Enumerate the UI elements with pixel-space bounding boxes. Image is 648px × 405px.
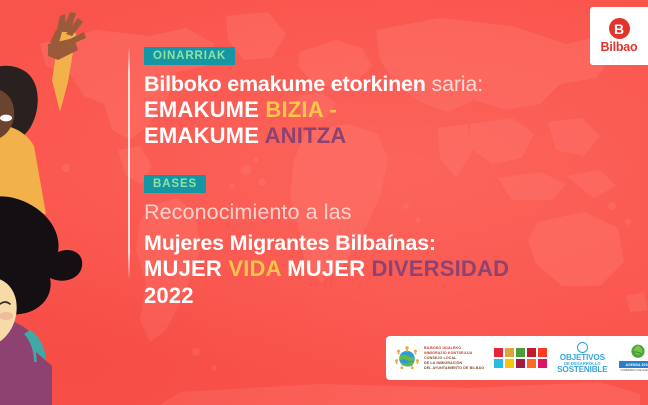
agenda-2030-logo: AGENDA 2030 GOBIERNO DE ESPAÑA bbox=[618, 343, 648, 373]
spanish-headline-1: Reconocimiento a las bbox=[144, 200, 509, 224]
sdg-swatch-6 bbox=[494, 359, 503, 368]
council-logo-text: BILBOKO UDALEKO INMIGRAZIO KONTSEILUA CO… bbox=[424, 346, 484, 370]
un-emblem-icon bbox=[577, 342, 588, 353]
spanish-title-word-1: MUJER bbox=[144, 256, 222, 281]
council-immigration-logo: BILBOKO UDALEKO INMIGRAZIO KONTSEILUA CO… bbox=[394, 345, 484, 371]
spanish-title-word-2: VIDA bbox=[228, 256, 281, 281]
council-line-es-2: DE LA INMIGRACIÓN bbox=[424, 361, 484, 365]
spanish-title-word-3: MUJER bbox=[287, 256, 365, 281]
poster-canvas: OINARRIAK Bilboko emakume etorkinen sari… bbox=[0, 0, 648, 405]
council-line-eu-1: BILBOKO UDALEKO bbox=[424, 346, 484, 350]
council-line-es-3: DEL AYUNTAMIENTO DE BILBAO bbox=[424, 366, 484, 370]
council-line-eu-2: INMIGRAZIO KONTSEILUA bbox=[424, 351, 484, 355]
basque-headline-1: Bilboko emakume etorkinen saria: bbox=[144, 72, 483, 96]
basque-title-1-word-2: BIZIA bbox=[265, 97, 323, 122]
spanish-title-line: MUJER VIDA MUJER DIVERSIDAD bbox=[144, 257, 509, 282]
spanish-headline-2: Mujeres Migrantes Bilbaínas: bbox=[144, 231, 509, 255]
sdg-color-grid bbox=[494, 348, 547, 368]
sdg-swatch-1 bbox=[494, 348, 503, 357]
sdg-swatch-4 bbox=[527, 348, 536, 357]
sdg-swatch-3 bbox=[516, 348, 525, 357]
basque-title-2-word-2: ANITZA bbox=[265, 123, 347, 148]
bilbao-b-icon: B bbox=[609, 18, 630, 39]
basque-headline-1-soft: saria: bbox=[432, 72, 483, 96]
vertical-divider bbox=[128, 46, 130, 280]
agenda-leaf-icon bbox=[627, 343, 648, 361]
badge-bases: BASES bbox=[144, 175, 206, 193]
sdg-swatch-10 bbox=[538, 359, 547, 368]
basque-text-block: OINARRIAK Bilboko emakume etorkinen sari… bbox=[144, 46, 483, 148]
ods-logo: OBJETIVOS DE DESARROLLO SOSTENIBLE bbox=[557, 342, 607, 375]
bilbao-logo: B Bilbao bbox=[590, 7, 648, 65]
sdg-swatch-2 bbox=[505, 348, 514, 357]
sdg-swatch-5 bbox=[538, 348, 547, 357]
edition-year: 2022 bbox=[144, 284, 509, 309]
sdg-swatch-8 bbox=[516, 359, 525, 368]
sdg-swatch-9 bbox=[527, 359, 536, 368]
basque-title-1-dash: - bbox=[329, 97, 337, 122]
bilbao-wordmark: Bilbao bbox=[601, 41, 638, 54]
agenda-sub-label: GOBIERNO DE ESPAÑA bbox=[621, 369, 648, 373]
basque-title-line-1: EMAKUME BIZIA - bbox=[144, 98, 483, 123]
ods-line-3: SOSTENIBLE bbox=[557, 366, 607, 374]
spanish-text-block: BASES Reconocimiento a las Mujeres Migra… bbox=[144, 174, 509, 308]
sdg-swatch-7 bbox=[505, 359, 514, 368]
globe-people-icon bbox=[394, 345, 420, 371]
badge-oinarriak: OINARRIAK bbox=[144, 47, 235, 65]
basque-title-1-word-1: EMAKUME bbox=[144, 97, 259, 122]
council-line-es-1: CONSEJO LOCAL bbox=[424, 356, 484, 360]
footer-logo-card: BILBOKO UDALEKO INMIGRAZIO KONTSEILUA CO… bbox=[386, 336, 648, 380]
basque-headline-1-strong: Bilboko emakume etorkinen bbox=[144, 72, 426, 96]
spanish-title-word-4: DIVERSIDAD bbox=[372, 256, 510, 281]
basque-title-2-word-1: EMAKUME bbox=[144, 123, 259, 148]
illustration-women bbox=[0, 0, 146, 405]
basque-title-line-2: EMAKUME ANITZA bbox=[144, 124, 483, 149]
